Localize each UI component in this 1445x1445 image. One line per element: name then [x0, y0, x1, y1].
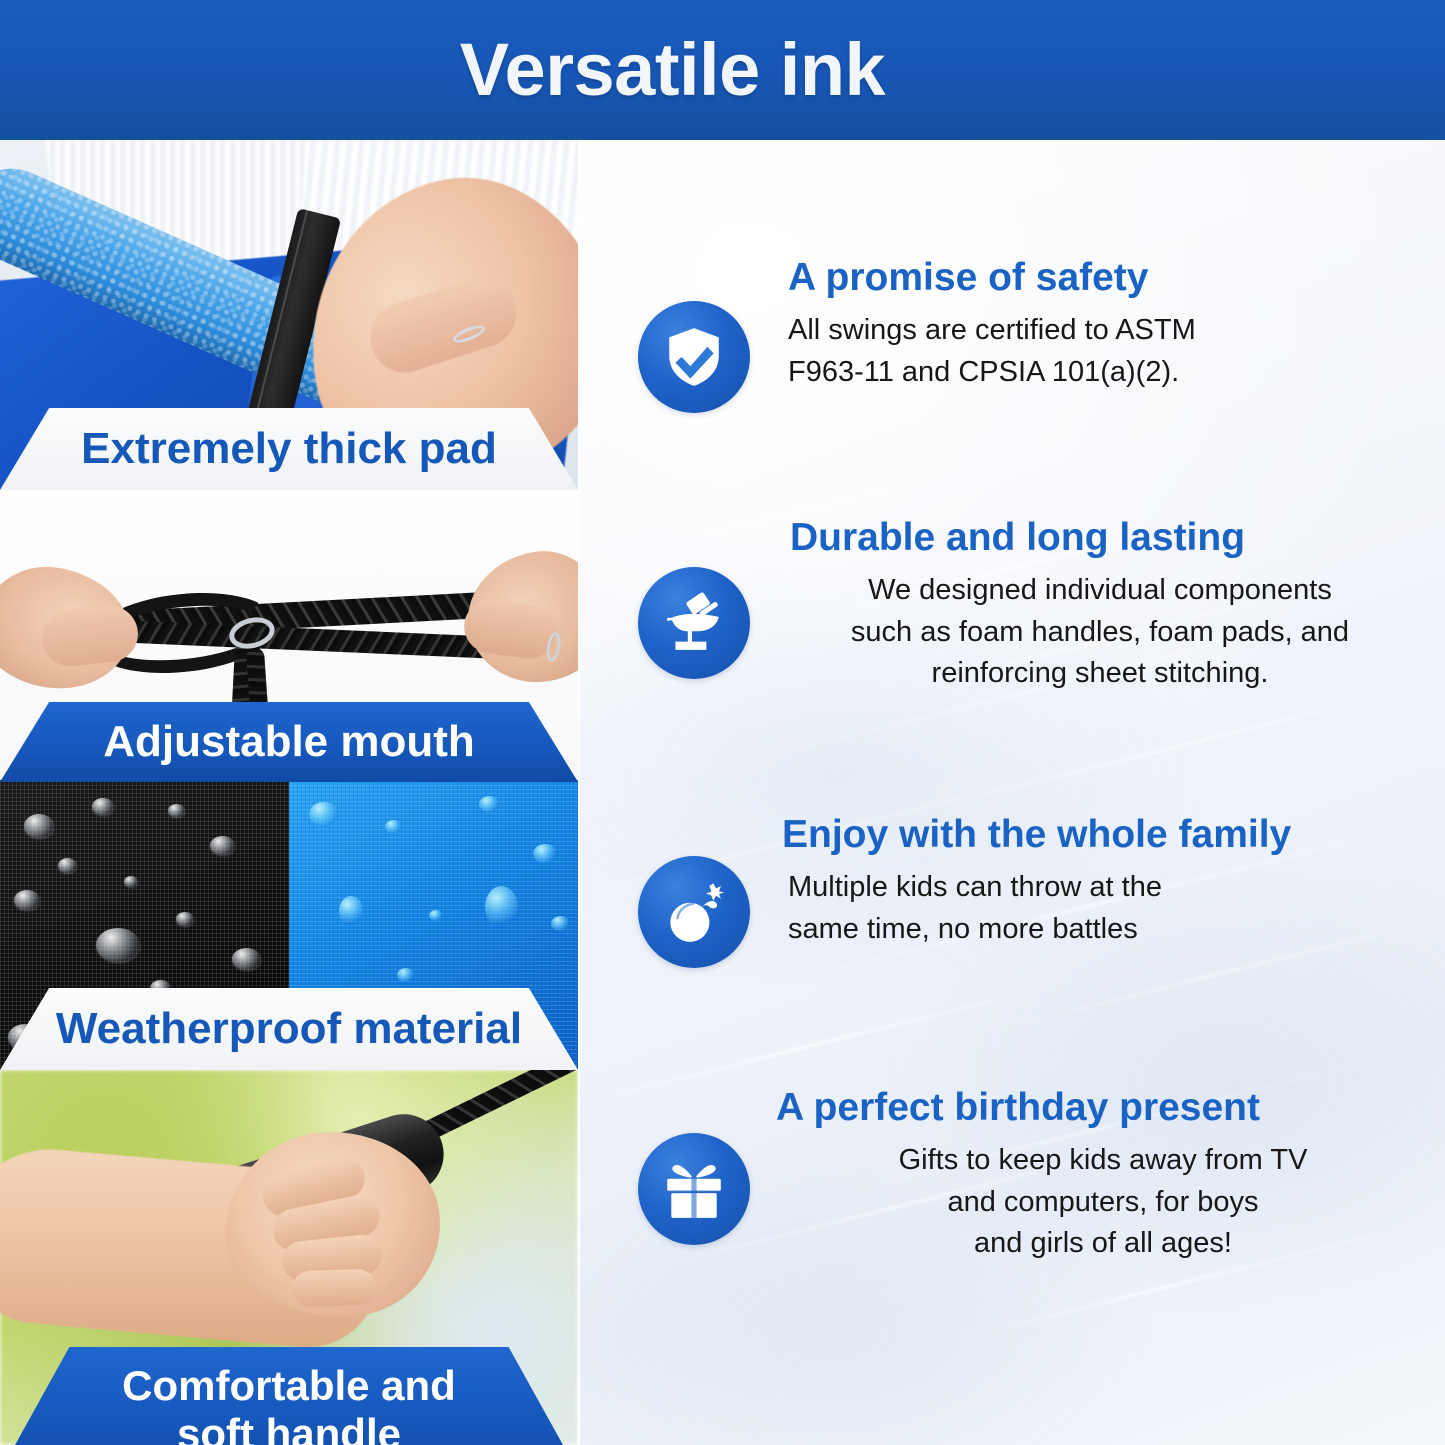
caption-adjustable-mouth: Adjustable mouth: [0, 702, 578, 782]
feature-title: A promise of safety: [788, 257, 1418, 298]
page-title: Versatile ink: [460, 33, 885, 107]
anvil-hammer-icon: [638, 567, 750, 679]
feature-perfect-birthday-present: A perfect birthday present Gifts to keep…: [638, 1085, 1428, 1264]
photo-column: Extremely thick pad Adjustable mouth Wea…: [0, 140, 578, 1445]
feature-description: Gifts to keep kids away from TV and comp…: [778, 1140, 1428, 1264]
feature-line: Multiple kids can throw at the: [788, 867, 1428, 908]
feature-line: F963-11 and CPSIA 101(a)(2).: [788, 352, 1418, 393]
feature-line: and computers, for boys: [778, 1182, 1428, 1223]
caption-label-line2: soft handle: [159, 1410, 419, 1445]
header-banner: Versatile ink: [0, 0, 1445, 140]
feature-description: We designed individual components such a…: [772, 570, 1428, 694]
feature-description: Multiple kids can throw at the same time…: [788, 867, 1428, 949]
shield-check-icon: [638, 301, 750, 413]
content-area: Extremely thick pad Adjustable mouth Wea…: [0, 140, 1445, 1445]
features-column: A promise of safety All swings are certi…: [578, 140, 1445, 1445]
infographic-page: Versatile ink: [0, 0, 1445, 1445]
bomb-icon: [638, 856, 750, 968]
feature-durable-long-lasting: Durable and long lasting We designed ind…: [638, 515, 1428, 694]
feature-title: A perfect birthday present: [776, 1087, 1428, 1128]
caption-label-line1: Comfortable and: [104, 1362, 474, 1409]
caption-label: Extremely thick pad: [63, 424, 515, 473]
feature-enjoy-whole-family: Enjoy with the whole family Multiple kid…: [638, 812, 1428, 968]
caption-label: Adjustable mouth: [85, 717, 493, 766]
caption-thick-pad: Extremely thick pad: [0, 408, 578, 490]
feature-line: and girls of all ages!: [778, 1223, 1428, 1264]
column-divider: [578, 140, 580, 1445]
caption-label: Weatherproof material: [38, 1004, 540, 1053]
feature-promise-of-safety: A promise of safety All swings are certi…: [638, 255, 1418, 413]
feature-title: Enjoy with the whole family: [782, 814, 1428, 855]
feature-line: Gifts to keep kids away from TV: [778, 1140, 1428, 1181]
feature-line: We designed individual components: [772, 570, 1428, 611]
feature-line: All swings are certified to ASTM: [788, 310, 1418, 351]
feature-description: All swings are certified to ASTM F963-11…: [788, 310, 1418, 392]
feature-line: same time, no more battles: [788, 909, 1428, 950]
feature-line: reinforcing sheet stitching.: [772, 653, 1428, 694]
caption-weatherproof-material: Weatherproof material: [0, 988, 578, 1070]
feature-line: such as foam handles, foam pads, and: [772, 612, 1428, 653]
gift-icon: [638, 1133, 750, 1245]
caption-soft-handle: Comfortable and soft handle: [0, 1347, 578, 1445]
feature-title: Durable and long lasting: [790, 517, 1428, 558]
